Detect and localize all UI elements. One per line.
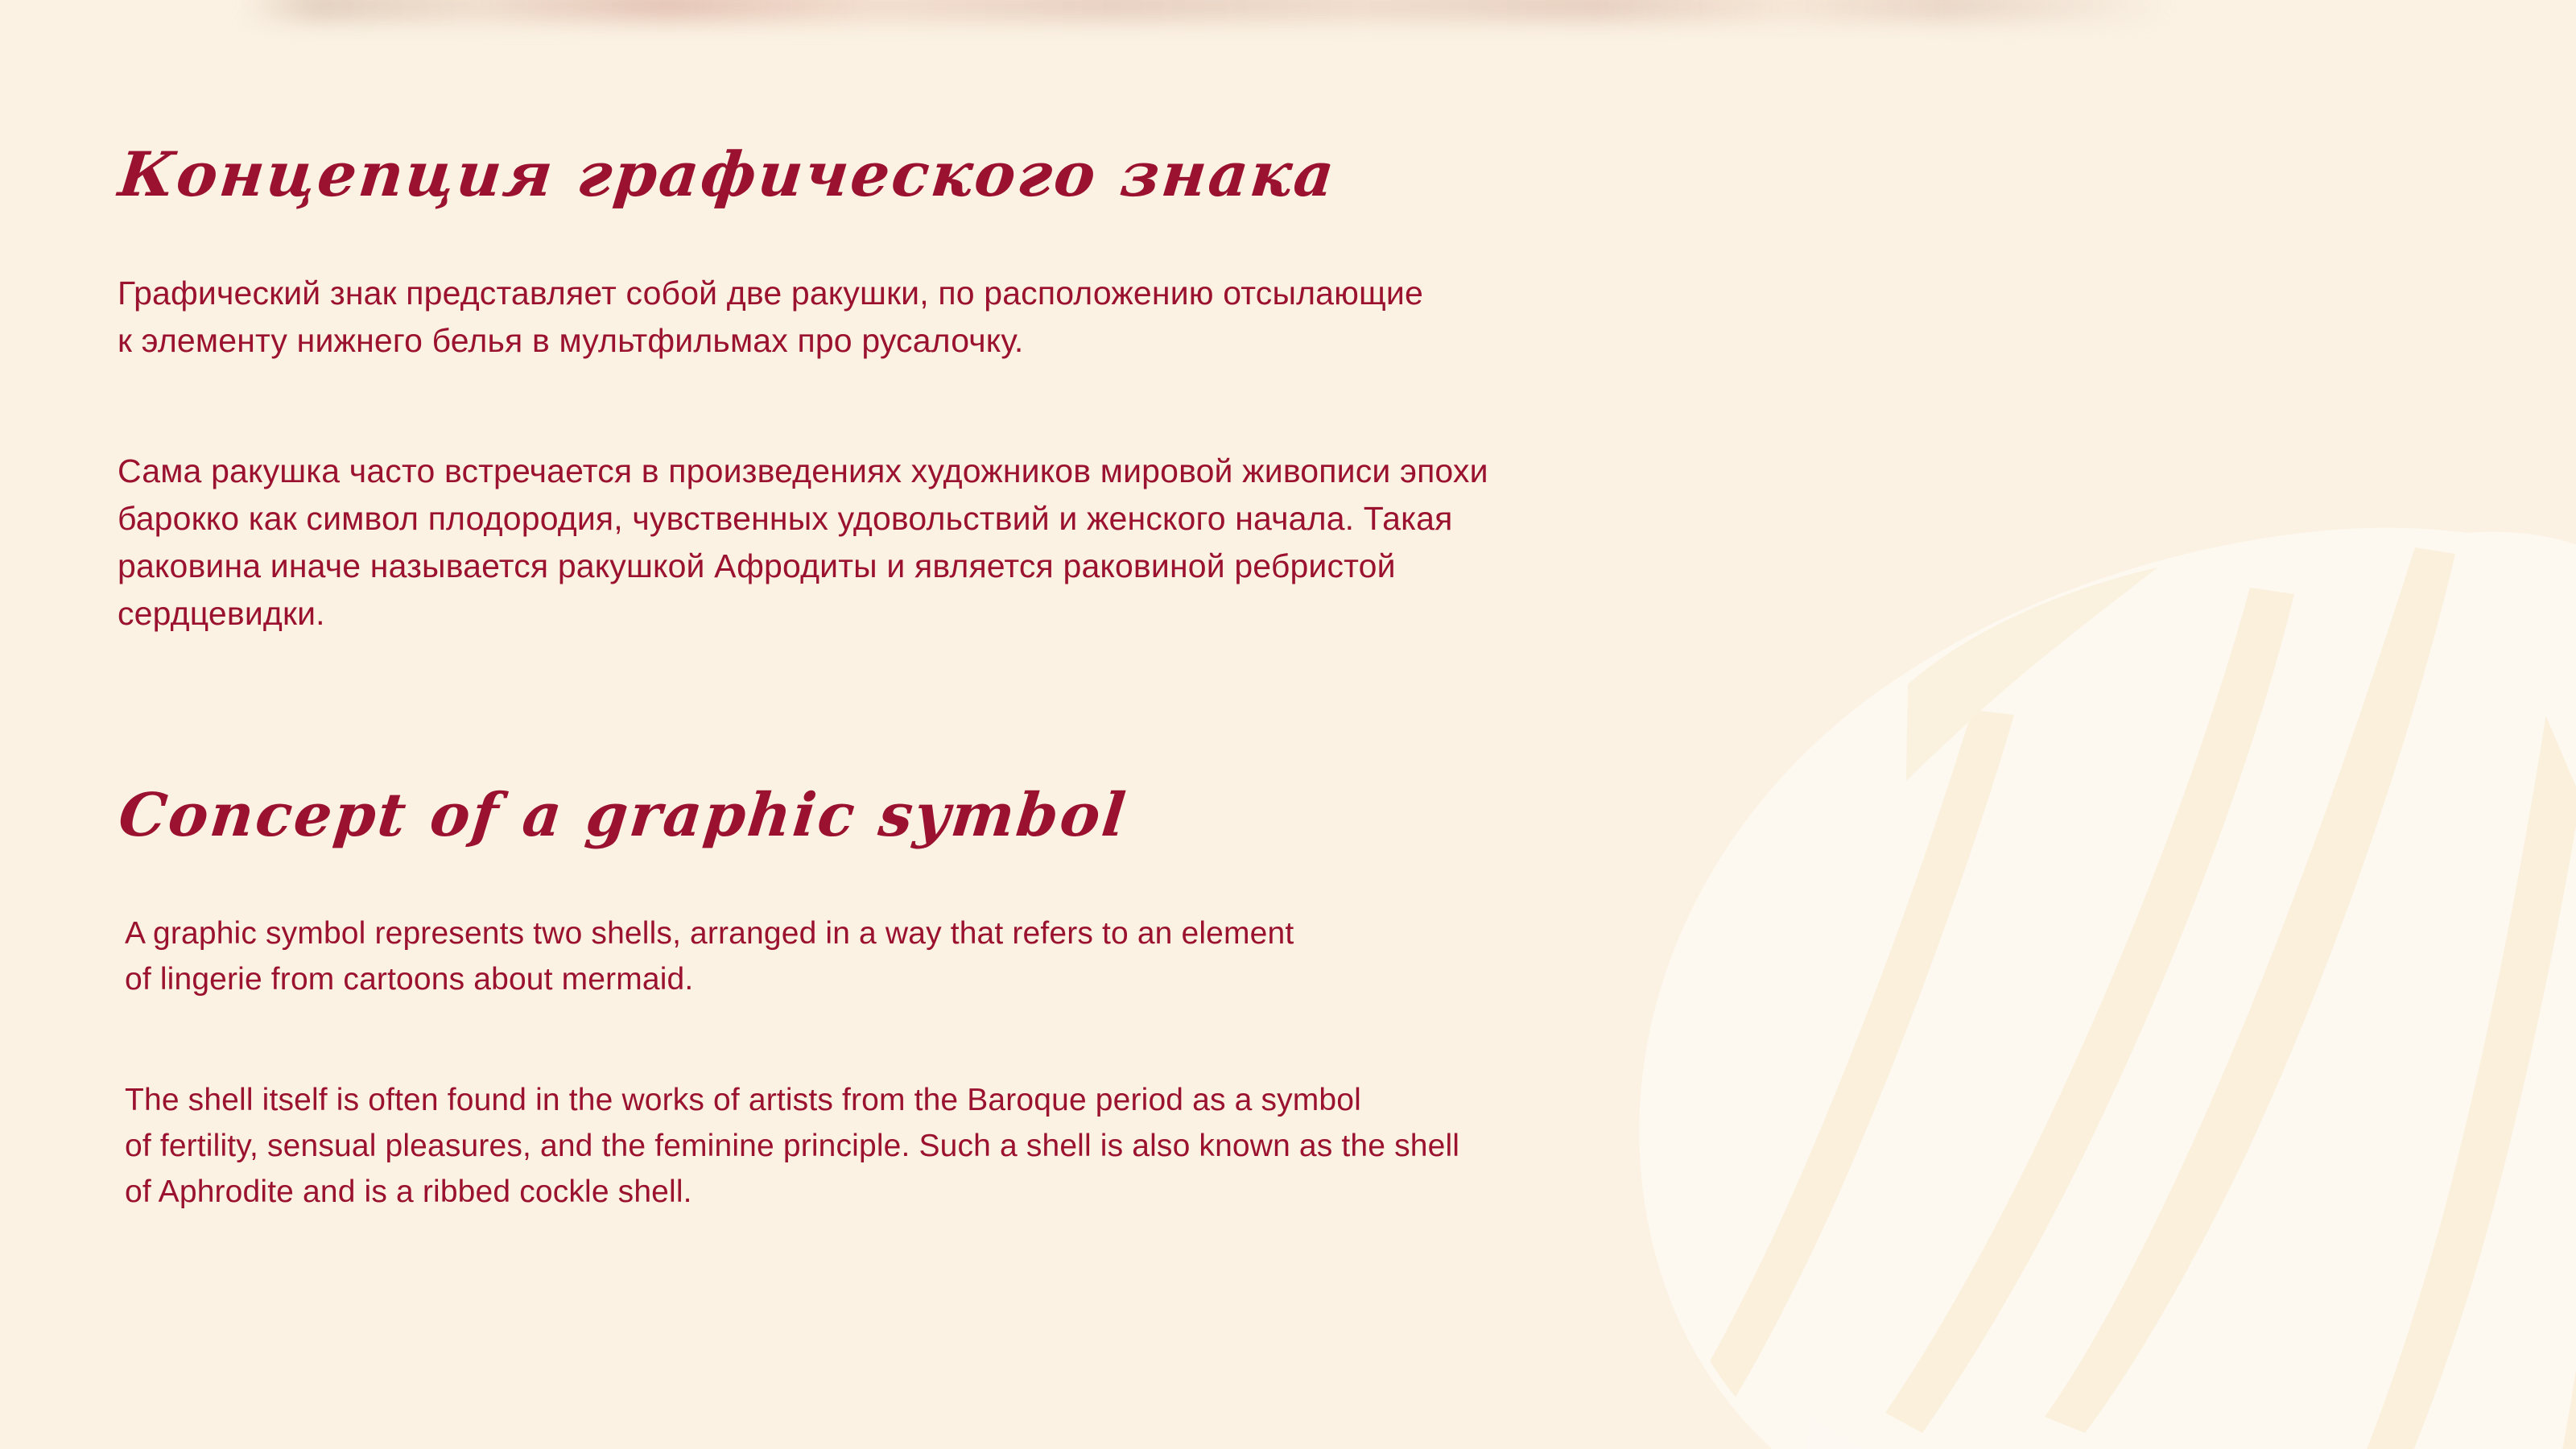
shell-watermark-icon <box>1570 346 2576 1449</box>
top-blurred-band <box>242 0 2173 21</box>
russian-section-heading: Концепция графического знака <box>116 144 1339 205</box>
english-paragraph-1: A graphic symbol represents two shells, … <box>125 911 1294 1003</box>
slide-canvas: Концепция графического знака Графический… <box>0 0 2576 1449</box>
russian-paragraph-2: Сама ракушка часто встречается в произве… <box>118 448 1488 638</box>
russian-paragraph-1: Графический знак представляет собой две … <box>118 270 1423 365</box>
english-section-heading: Concept of a graphic symbol <box>116 786 1130 845</box>
english-paragraph-2: The shell itself is often found in the w… <box>125 1078 1459 1216</box>
